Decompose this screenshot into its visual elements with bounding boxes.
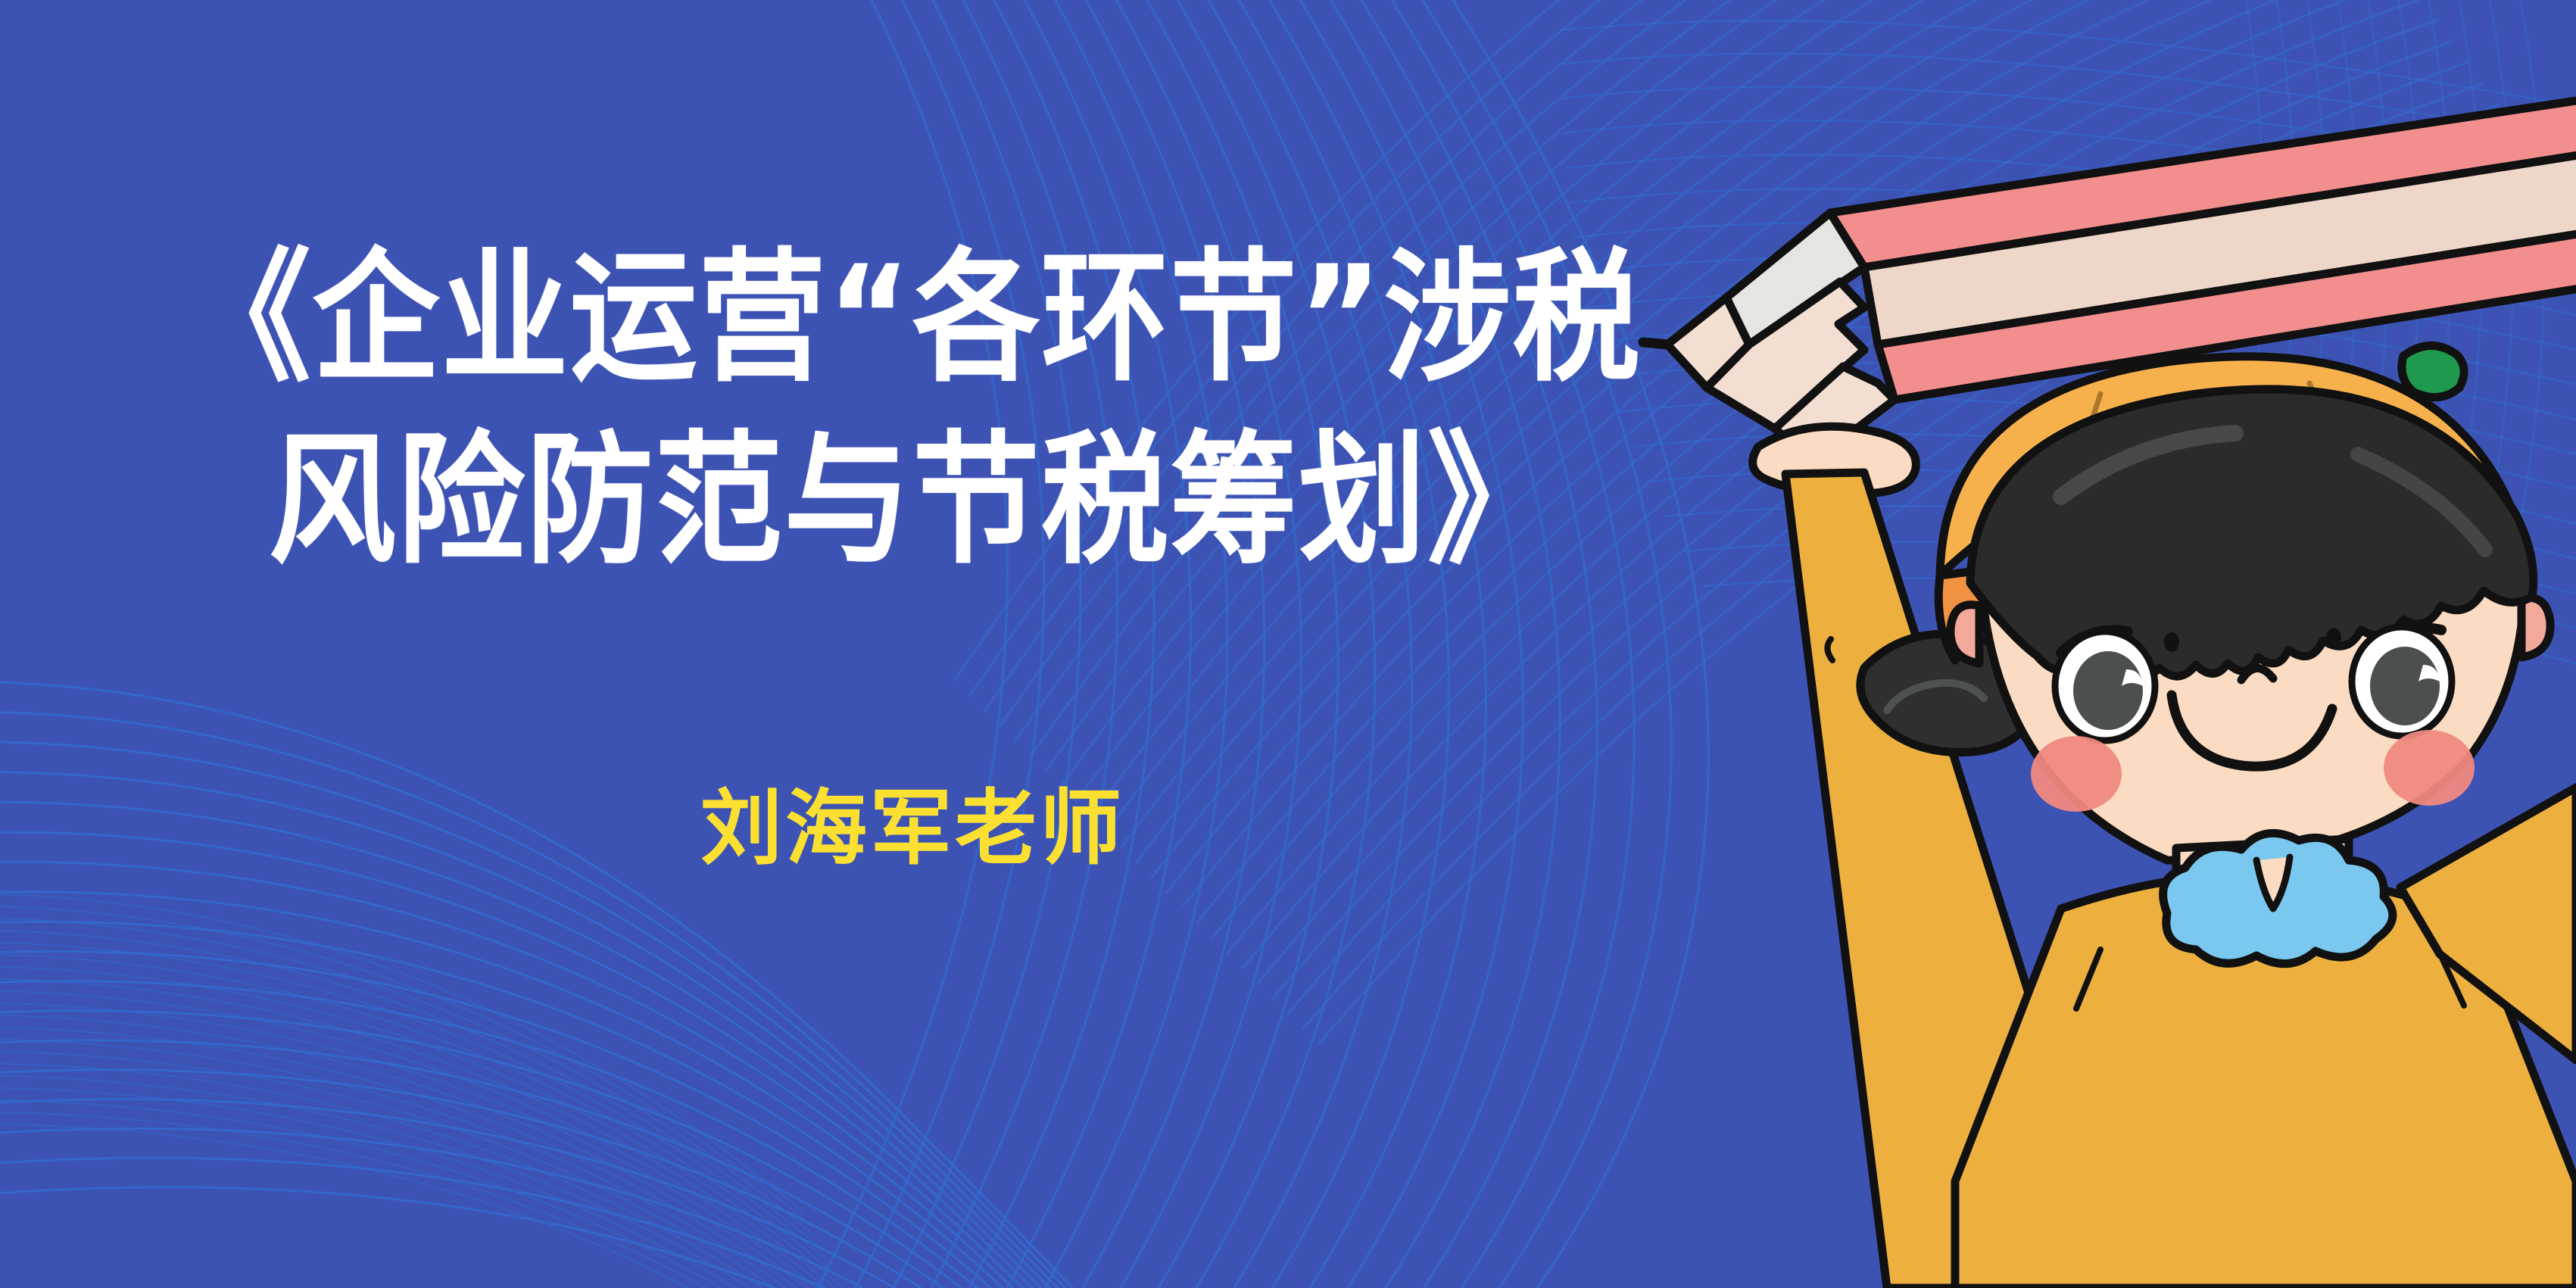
poster-canvas: 《企业运营“各环节”涉税 风险防范与节税筹划》 刘海军老师 [0, 0, 2576, 1288]
presenter-name: 刘海军老师 [136, 780, 1689, 878]
character-body [1955, 787, 2576, 1288]
character-illustration [1637, 0, 2576, 1288]
character-face [1951, 389, 2550, 861]
